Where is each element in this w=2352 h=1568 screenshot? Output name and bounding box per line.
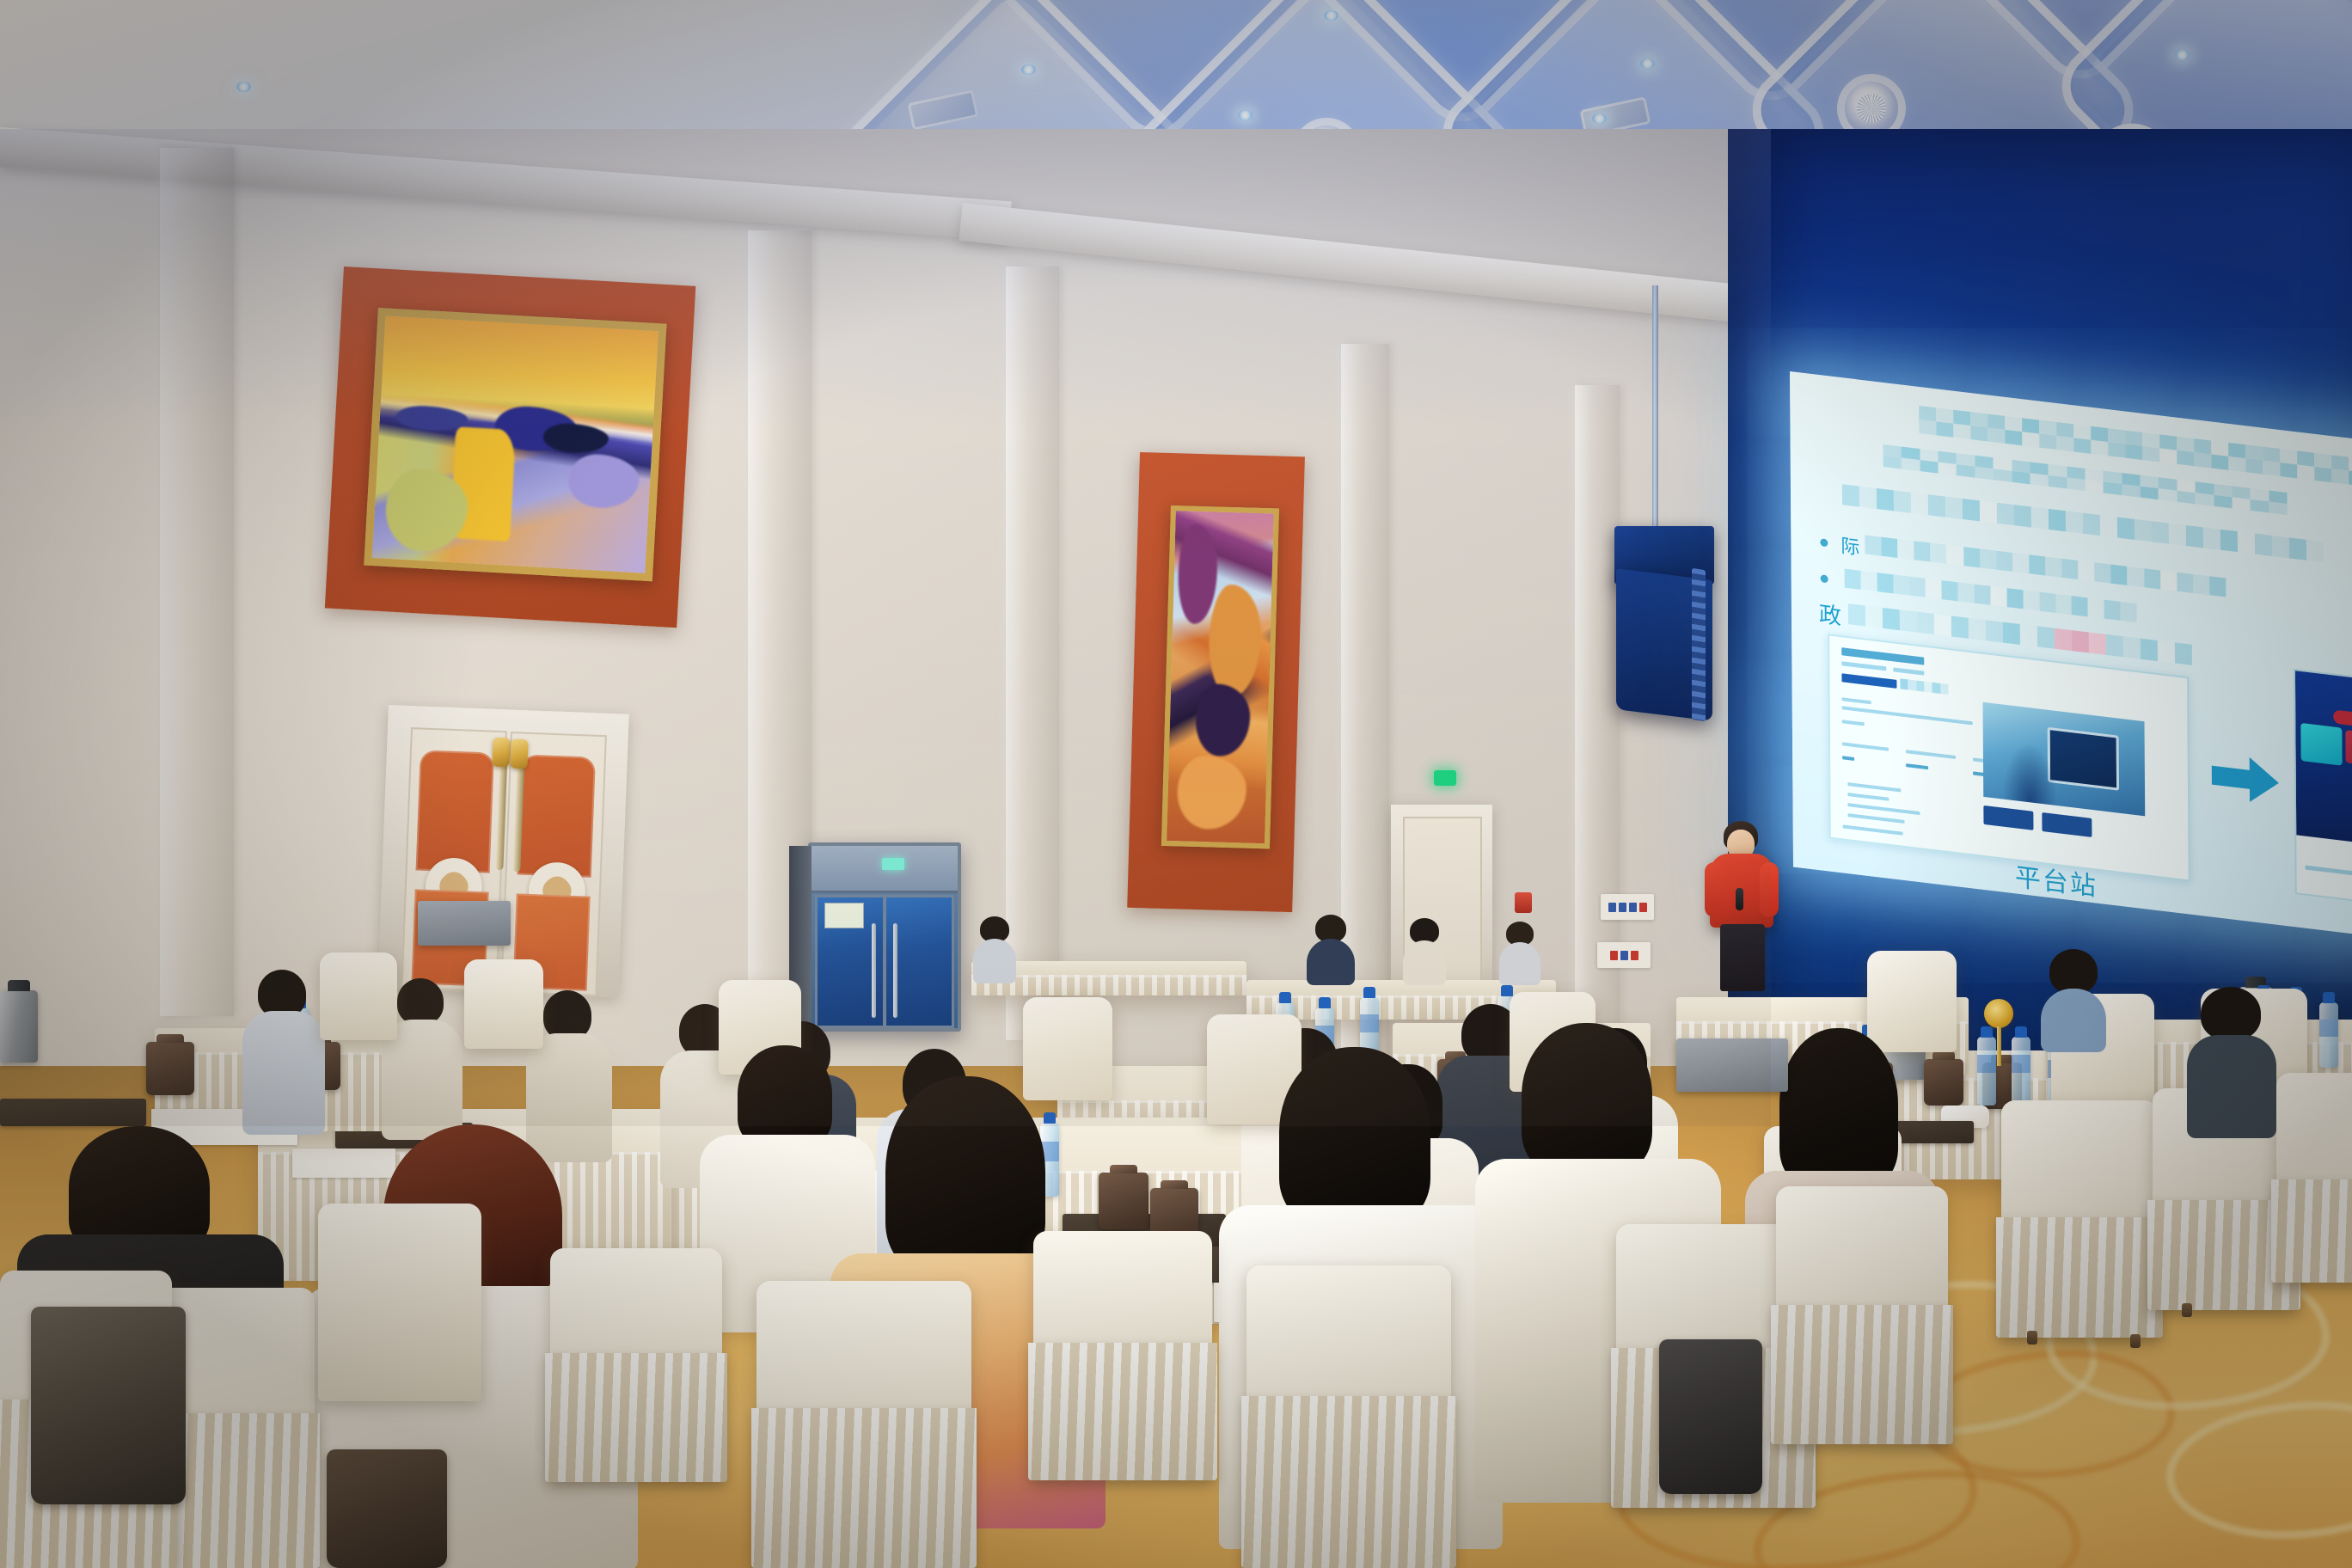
shot-monitor-graphic: [2048, 727, 2119, 791]
slide-surface: 际: [1790, 371, 2352, 939]
ceiling-downlight: [2175, 50, 2190, 60]
chair-foot: [2130, 1334, 2141, 1348]
shot-listline: [1843, 824, 1903, 835]
shot-listline: [1847, 803, 1920, 815]
ceiling-downlight: [1640, 58, 1655, 69]
person-hair: [1779, 1028, 1898, 1186]
chair-skirt: [2271, 1179, 2352, 1283]
slide-bullet-marker: [1821, 574, 1828, 583]
shot-badge: [1841, 673, 1896, 689]
backpack: [31, 1307, 186, 1504]
ceiling-downlight: [1021, 64, 1036, 75]
banquet-chair[interactable]: [1867, 951, 1957, 1052]
handbag: [327, 1449, 447, 1568]
ceiling-downlight: [1324, 10, 1338, 21]
ceiling-downlight: [1238, 110, 1253, 120]
shot-listline: [1847, 782, 1901, 792]
shot-censored-block: [1900, 678, 1948, 695]
person-torso: [2041, 989, 2106, 1052]
banquet-chair[interactable]: [2276, 1073, 2352, 1283]
banquet-chair[interactable]: [318, 1204, 481, 1401]
banquet-chair-foreground[interactable]: [756, 1281, 971, 1568]
slide-website-screenshot-card: [1828, 634, 2190, 881]
app-card-cyan: [2300, 723, 2342, 766]
shot-listline: [1848, 813, 1905, 824]
shot-bodyline: [1842, 756, 1854, 761]
shot-subline: [1893, 667, 1924, 675]
shot-bodyline: [1842, 697, 1871, 704]
chair-skirt: [1996, 1217, 2163, 1338]
banquet-chair[interactable]: [1033, 1231, 1212, 1480]
app-tag-red: [2333, 709, 2352, 728]
chair-foot: [2027, 1331, 2037, 1344]
shot-bodyline: [1906, 750, 1956, 759]
banquet-chair-foreground[interactable]: [1776, 1186, 1948, 1444]
chair-skirt: [545, 1353, 727, 1482]
slide-bullet-label-1: 际: [1841, 530, 1861, 560]
ceiling-downlight: [1592, 113, 1607, 124]
ceiling-rosette: [1845, 82, 1898, 135]
ceiling-downlight: [236, 82, 251, 92]
notepad-sheet: [292, 1148, 395, 1178]
projection-screen: 际: [1790, 371, 2352, 939]
app-footer-line: [2305, 866, 2352, 876]
table-number-stand: [1984, 999, 2013, 1028]
shot-bodyline: [1842, 720, 1865, 726]
chair-skirt: [1771, 1305, 1953, 1444]
shot-subline: [1841, 661, 1886, 671]
app-card-red: [2345, 730, 2352, 772]
chair-skirt: [1241, 1396, 1456, 1568]
carpet-motif: [2166, 1401, 2352, 1539]
water-bottle: [2012, 1037, 2030, 1106]
shot-listline: [1847, 793, 1889, 801]
tote-bag: [1659, 1339, 1762, 1494]
shot-bodyline: [1842, 742, 1889, 750]
slide-arrow-tail: [2212, 766, 2251, 790]
person-hair: [2201, 987, 2261, 1040]
ceramic-teapot: [1924, 1059, 1963, 1106]
person-torso: [2187, 1035, 2276, 1138]
ceramic-teapot: [1099, 1173, 1148, 1229]
chair-skirt: [1028, 1343, 1217, 1480]
banquet-chair[interactable]: [2001, 1100, 2158, 1338]
shot-embedded-photo: [1982, 702, 2145, 817]
shot-cta-button-primary[interactable]: [1983, 805, 2033, 830]
banquet-chair[interactable]: [550, 1248, 722, 1482]
chair-foot: [2182, 1303, 2192, 1317]
water-bottle: [2319, 1002, 2338, 1068]
water-bottle: [1977, 1037, 1996, 1106]
slide-bullet-marker: [1820, 538, 1828, 547]
slide-section-label: 政: [1819, 597, 1843, 631]
chair-skirt: [751, 1408, 977, 1568]
app-hero-banner: [2295, 671, 2352, 849]
shot-cta-button-secondary[interactable]: [2042, 812, 2092, 837]
person-hair: [2049, 949, 2098, 994]
conference-hall-photo: 际: [0, 0, 2352, 1568]
wall-shading-overlay: [0, 129, 1771, 1126]
banquet-chair-foreground[interactable]: [1246, 1265, 1451, 1568]
shot-bodyline: [1906, 763, 1928, 769]
slide-mobile-app-mockup: [2294, 669, 2352, 910]
slide-right-arrow-icon: [2250, 757, 2279, 805]
